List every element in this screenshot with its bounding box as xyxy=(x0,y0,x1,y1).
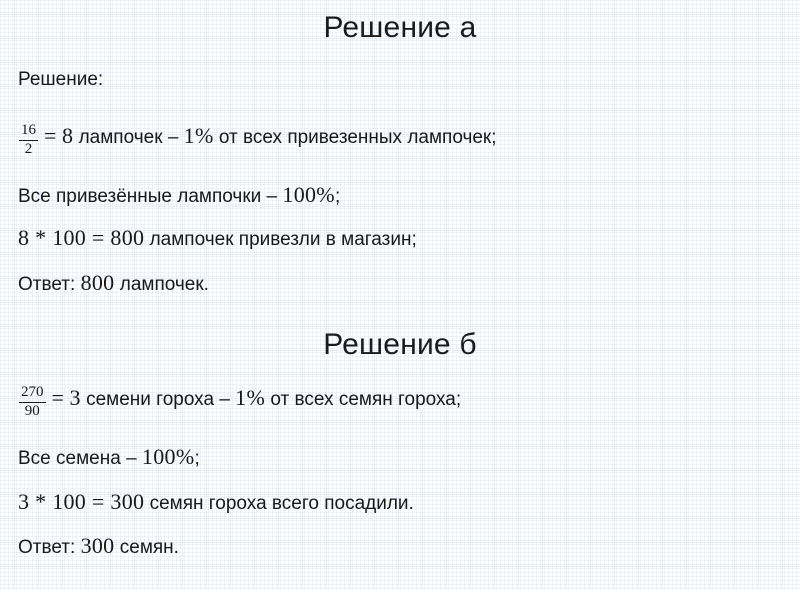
fraction-denominator: 2 xyxy=(18,141,39,158)
line-1-tail: от всех привезенных лампочек; xyxy=(219,127,497,148)
multiplication-expression: 8 * 100 = 800 xyxy=(18,225,144,250)
line-1-tail: от всех семян гороха; xyxy=(270,389,461,410)
hundred-percent-value: 100% xyxy=(142,444,195,469)
section-a-line-2: Все привезённые лампочки – 100%; xyxy=(18,182,340,210)
percent-value: 1% xyxy=(184,123,214,148)
section-a-intro-label: Решение: xyxy=(18,67,103,93)
section-b-answer: Ответ: 300 семян. xyxy=(18,533,179,561)
answer-value: 800 xyxy=(81,270,115,295)
answer-unit: семян. xyxy=(120,537,179,558)
dash-separator: – xyxy=(219,389,230,410)
section-a-answer: Ответ: 800 лампочек. xyxy=(18,270,209,298)
fraction-numerator: 270 xyxy=(18,385,47,402)
answer-label: Ответ: xyxy=(18,537,75,558)
worksheet-page: Решение а Решение: 16 2 = 8 лампочек – 1… xyxy=(0,0,800,590)
semicolon: ; xyxy=(335,186,340,207)
line-3-tail: лампочек привезли в магазин; xyxy=(150,229,417,250)
equals-sign: = xyxy=(52,385,65,410)
answer-value: 300 xyxy=(81,533,115,558)
all-items-label: Все семена xyxy=(18,448,121,469)
answer-label: Ответ: xyxy=(18,274,75,295)
fraction-denominator: 90 xyxy=(18,403,47,420)
section-b-line-2: Все семена – 100%; xyxy=(18,444,200,472)
unit-label: семени гороха xyxy=(86,389,214,410)
section-a-heading: Решение а xyxy=(0,13,800,43)
line-3-tail: семян гороха всего посадили. xyxy=(150,493,414,514)
one-percent-value: 8 xyxy=(62,123,73,148)
multiplication-expression: 3 * 100 = 300 xyxy=(18,489,144,514)
fraction-270-over-90: 270 90 xyxy=(18,385,47,420)
semicolon: ; xyxy=(194,448,199,469)
percent-value: 1% xyxy=(235,385,265,410)
all-items-label: Все привезённые лампочки xyxy=(18,186,261,207)
one-percent-value: 3 xyxy=(70,385,81,410)
unit-label: лампочек xyxy=(79,127,163,148)
dash-separator: – xyxy=(168,127,179,148)
dash-separator: – xyxy=(267,186,278,207)
section-a-line-1: 16 2 = 8 лампочек – 1% от всех привезенн… xyxy=(18,123,497,158)
dash-separator: – xyxy=(126,448,137,469)
section-a-line-3: 8 * 100 = 800 лампочек привезли в магази… xyxy=(18,225,417,253)
fraction-numerator: 16 xyxy=(18,123,39,140)
hundred-percent-value: 100% xyxy=(282,182,335,207)
section-b-heading: Решение б xyxy=(0,330,800,360)
section-b-line-3: 3 * 100 = 300 семян гороха всего посадил… xyxy=(18,489,414,517)
equals-sign: = xyxy=(44,123,57,148)
fraction-16-over-2: 16 2 xyxy=(18,123,39,158)
answer-unit: лампочек. xyxy=(120,274,209,295)
section-b-line-1: 270 90 = 3 семени гороха – 1% от всех се… xyxy=(18,385,461,420)
